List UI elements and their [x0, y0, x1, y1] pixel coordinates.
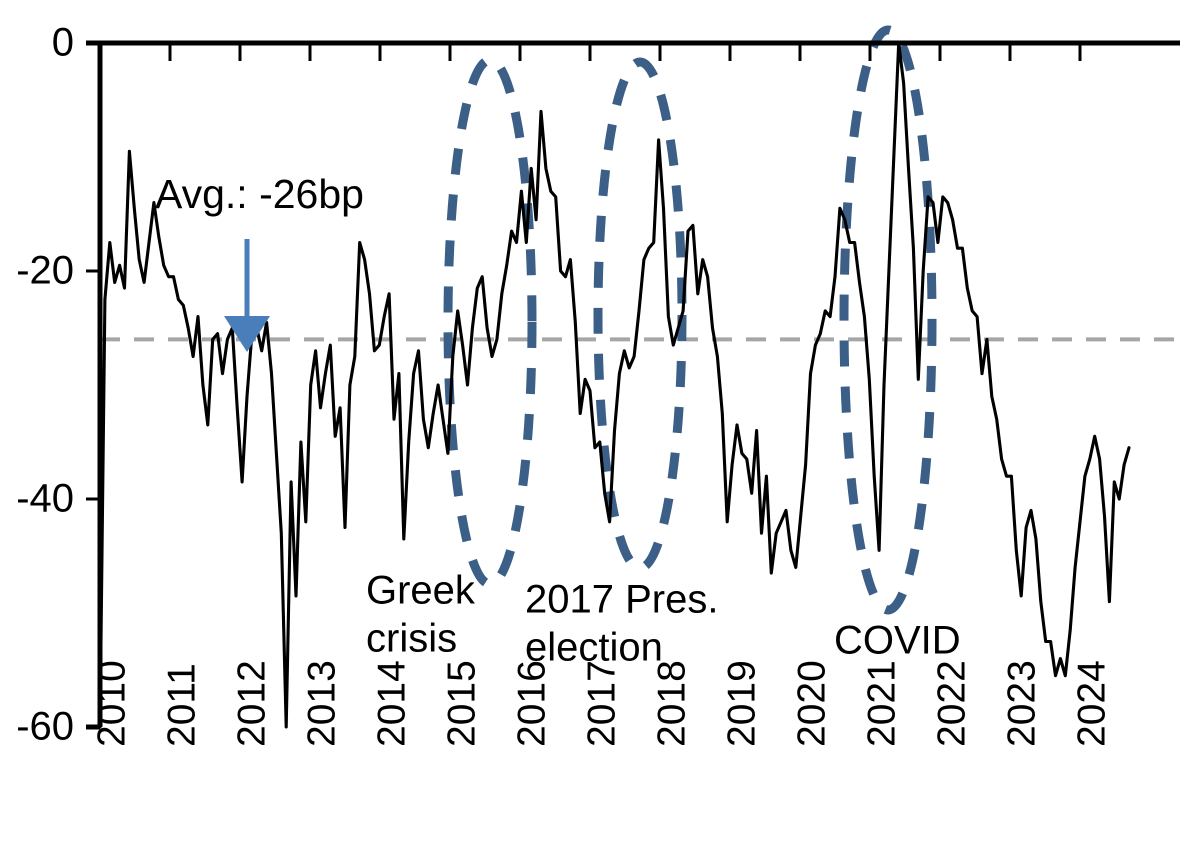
x-axis-tick-label: 2020	[790, 660, 833, 747]
y-axis-tick-label: -60	[16, 705, 74, 749]
y-axis-tick-label: -40	[16, 477, 74, 521]
x-axis-tick-label: 2016	[510, 660, 553, 747]
y-axis-tick-labels: 0-20-40-60	[16, 21, 74, 749]
x-axis-tick-label: 2010	[90, 660, 133, 747]
line-chart: 0-20-40-60 20102011201220132014201520162…	[0, 0, 1200, 852]
x-axis-tick-label: 2023	[1000, 660, 1043, 747]
x-axis-tick-label: 2019	[720, 660, 763, 747]
annotation-label-covid: COVID	[834, 619, 961, 663]
x-axis-tick-label: 2013	[300, 660, 343, 747]
x-axis-tick-label: 2012	[230, 660, 273, 747]
x-axis-tick-label: 2015	[440, 660, 483, 747]
series-group	[100, 43, 1129, 727]
y-axis-tick-label: -20	[16, 249, 74, 293]
x-axis-tick-label: 2021	[860, 660, 903, 747]
average-label: Avg.: -26bp	[155, 171, 364, 217]
y-axis-tick-label: 0	[52, 21, 74, 65]
x-axis-tick-label: 2022	[930, 660, 973, 747]
chart-container: 0-20-40-60 20102011201220132014201520162…	[0, 0, 1200, 852]
annotation-label-pres-election-2017: 2017 Pres.	[525, 578, 718, 622]
x-axis-tick-label: 2011	[160, 663, 203, 747]
annotation-label-greek-crisis: crisis	[366, 617, 457, 661]
x-axis-tick-label: 2017	[580, 660, 623, 747]
x-axis-tick-labels: 2010201120122013201420152016201720182019…	[90, 660, 1113, 747]
axis-group	[86, 43, 1180, 727]
x-axis-ticks	[100, 43, 1080, 61]
annotation-label-pres-election-2017: election	[525, 626, 663, 670]
x-axis-tick-label: 2014	[370, 660, 413, 747]
annotation-label-greek-crisis: Greek	[366, 569, 476, 613]
x-axis-tick-label: 2024	[1070, 660, 1113, 747]
x-axis-tick-label: 2018	[650, 660, 693, 747]
annotation-ellipse-group	[448, 30, 932, 610]
spread-series-line	[100, 43, 1129, 727]
